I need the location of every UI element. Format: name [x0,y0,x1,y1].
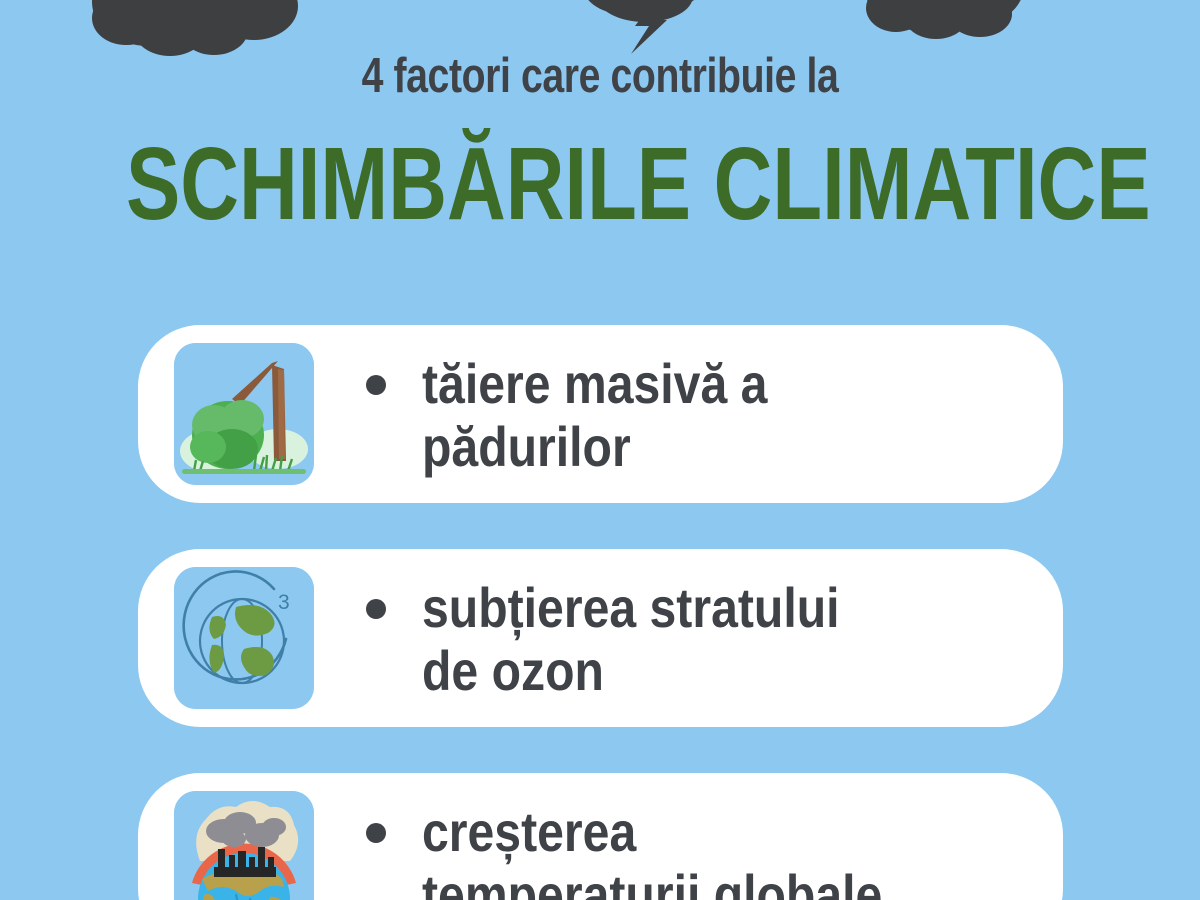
factor-list: tăiere masivă a pădurilor 3 [138,325,1063,900]
factor-label-1: tăiere masivă a pădurilor [422,353,767,478]
page-title: SCHIMBĂRILE CLIMATICE [126,135,1074,234]
factor-label-2: subțierea stratului de ozon [422,577,840,702]
bullet-icon [366,375,386,395]
factor-card-1[interactable]: tăiere masivă a pădurilor [138,325,1063,503]
cloud-right-icon [852,0,1042,52]
bullet-icon [366,599,386,619]
felled-tree-icon [174,343,314,485]
page-subtitle: 4 factori care contribuie la [120,52,1080,101]
ozone-number-label: 3 [278,591,290,614]
bullet-icon [366,823,386,843]
page-header: 4 factori care contribuie la SCHIMBĂRILE… [0,52,1200,234]
factor-body-3: creșterea temperaturii globale [366,797,957,900]
factor-label-3: creșterea temperaturii globale [422,801,882,900]
factor-card-2[interactable]: 3 subțierea stratului de ozon [138,549,1063,727]
factor-body-1: tăiere masivă a pădurilor [366,349,824,478]
factor-card-3[interactable]: creșterea temperaturii globale [138,773,1063,900]
factor-body-2: subțierea stratului de ozon [366,573,907,702]
melting-globe-factory-icon [174,791,314,900]
ozone-globe-icon: 3 [174,567,314,709]
cloud-with-lightning-icon [575,0,715,56]
